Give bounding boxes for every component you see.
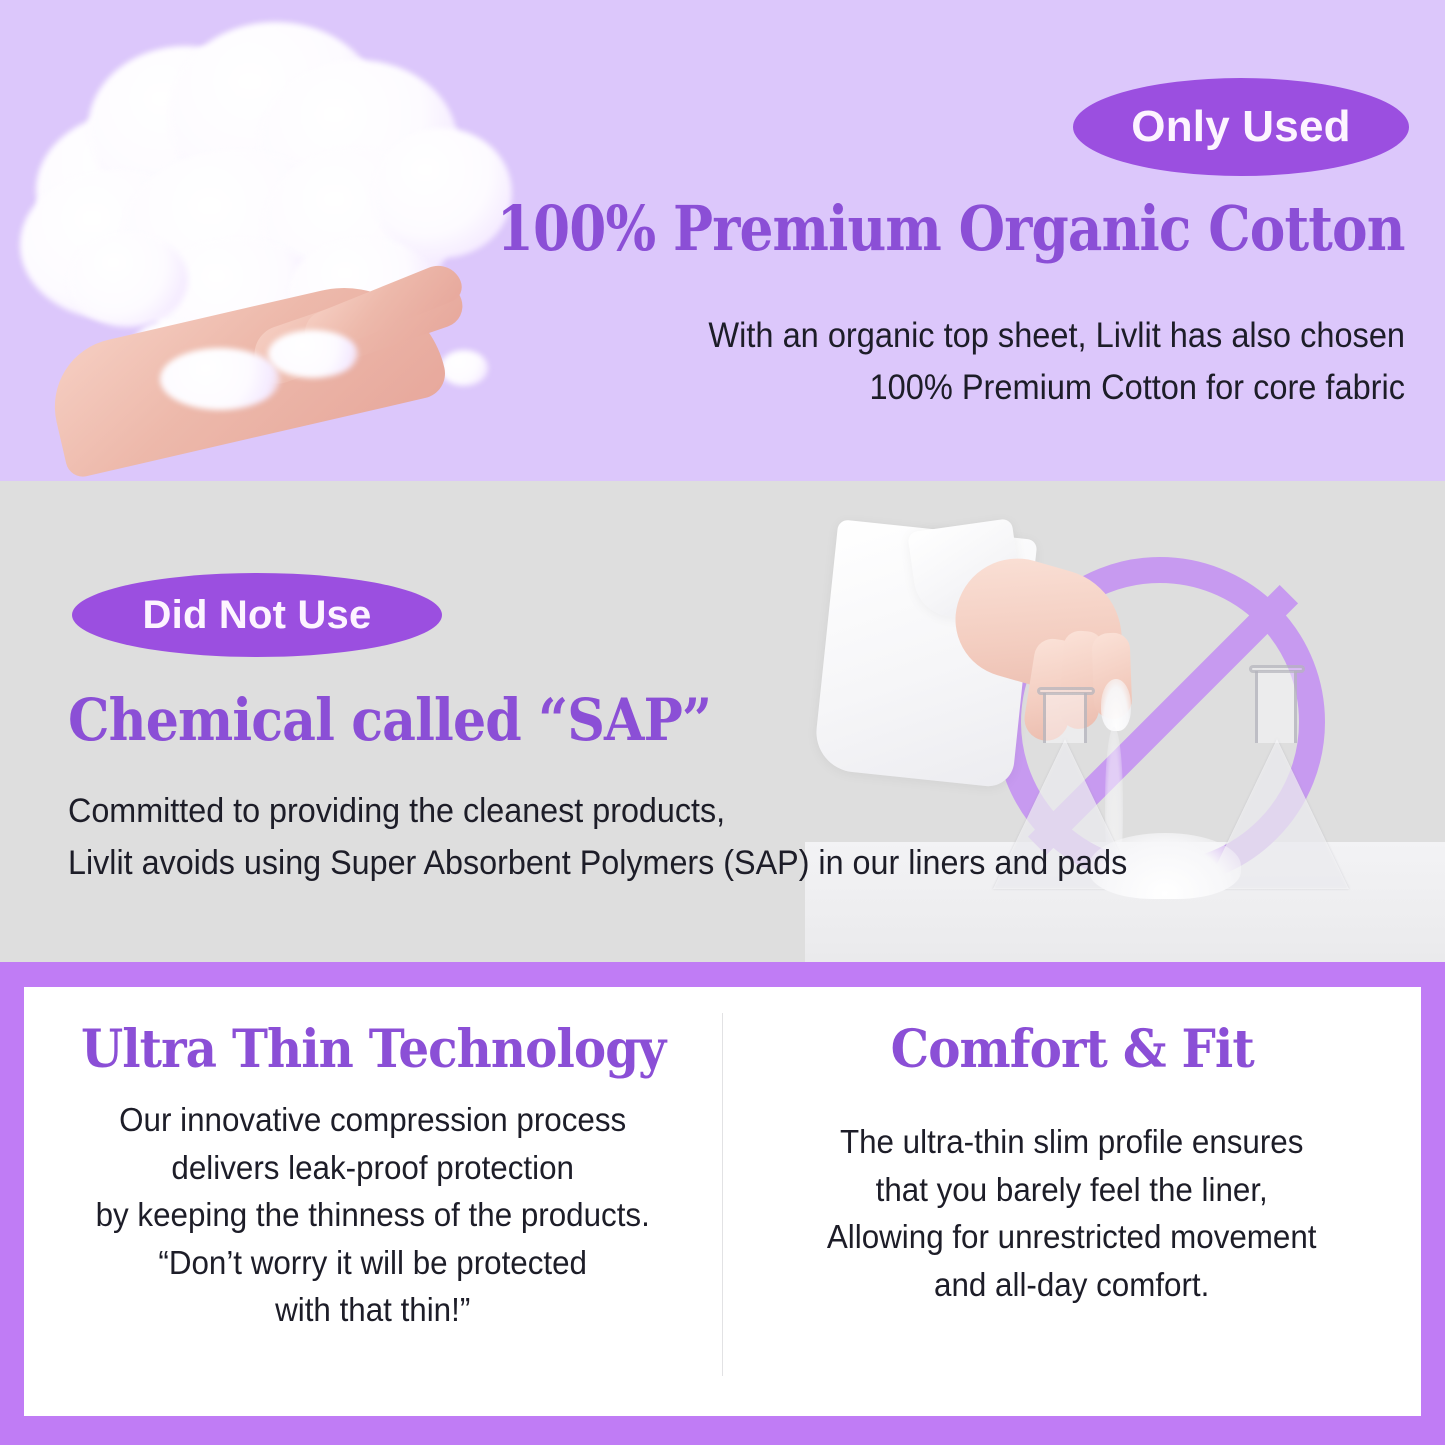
cotton-cloud-photo xyxy=(0,0,520,481)
feature-text-line: Allowing for unrestricted movement xyxy=(827,1213,1317,1261)
feature-title-ultra-thin: Ultra Thin Technology xyxy=(81,1021,665,1078)
sap-description: Committed to providing the cleanest prod… xyxy=(68,786,1127,889)
feature-text-line: delivers leak-proof protection xyxy=(96,1144,650,1192)
cotton-title: 100% Premium Organic Cotton xyxy=(497,196,1405,261)
cotton-description-line-1: With an organic top sheet, Livlit has al… xyxy=(708,310,1405,362)
section-features: Ultra Thin Technology Our innovative com… xyxy=(0,962,1445,1445)
sap-description-line-2: Livlit avoids using Super Absorbent Poly… xyxy=(68,838,1127,890)
feature-text-comfort-fit: The ultra-thin slim profile ensures that… xyxy=(827,1118,1317,1308)
badge-did-not-use: Did Not Use xyxy=(72,573,442,657)
sap-title: Chemical called “SAP” xyxy=(68,690,711,751)
cotton-description: With an organic top sheet, Livlit has al… xyxy=(708,310,1405,414)
lab-flasks-photo xyxy=(805,481,1445,962)
sap-description-line-1: Committed to providing the cleanest prod… xyxy=(68,786,1127,838)
feature-text-line: and all-day comfort. xyxy=(827,1261,1317,1309)
feature-text-ultra-thin: Our innovative compression process deliv… xyxy=(96,1096,650,1334)
feature-title-comfort-fit: Comfort & Fit xyxy=(890,1021,1253,1078)
feature-text-line: The ultra-thin slim profile ensures xyxy=(827,1118,1317,1166)
section-no-sap: Did Not Use Chemical called “SAP” Commit… xyxy=(0,481,1445,962)
badge-only-used-label: Only Used xyxy=(1131,105,1350,149)
badge-only-used: Only Used xyxy=(1073,78,1409,176)
feature-text-line: Our innovative compression process xyxy=(96,1096,650,1144)
badge-did-not-use-label: Did Not Use xyxy=(143,595,372,635)
feature-comfort-and-fit: Comfort & Fit The ultra-thin slim profil… xyxy=(723,987,1421,1416)
feature-text-line: by keeping the thinness of the products. xyxy=(96,1191,650,1239)
section-organic-cotton: Only Used 100% Premium Organic Cotton Wi… xyxy=(0,0,1445,481)
feature-text-line: that you barely feel the liner, xyxy=(827,1166,1317,1214)
feature-ultra-thin-technology: Ultra Thin Technology Our innovative com… xyxy=(24,987,722,1416)
feature-text-line: “Don’t worry it will be protected xyxy=(96,1239,650,1287)
infographic-page: Only Used 100% Premium Organic Cotton Wi… xyxy=(0,0,1445,1445)
feature-text-line: with that thin!” xyxy=(96,1286,650,1334)
cotton-description-line-2: 100% Premium Cotton for core fabric xyxy=(708,362,1405,414)
feature-card: Ultra Thin Technology Our innovative com… xyxy=(24,987,1421,1416)
